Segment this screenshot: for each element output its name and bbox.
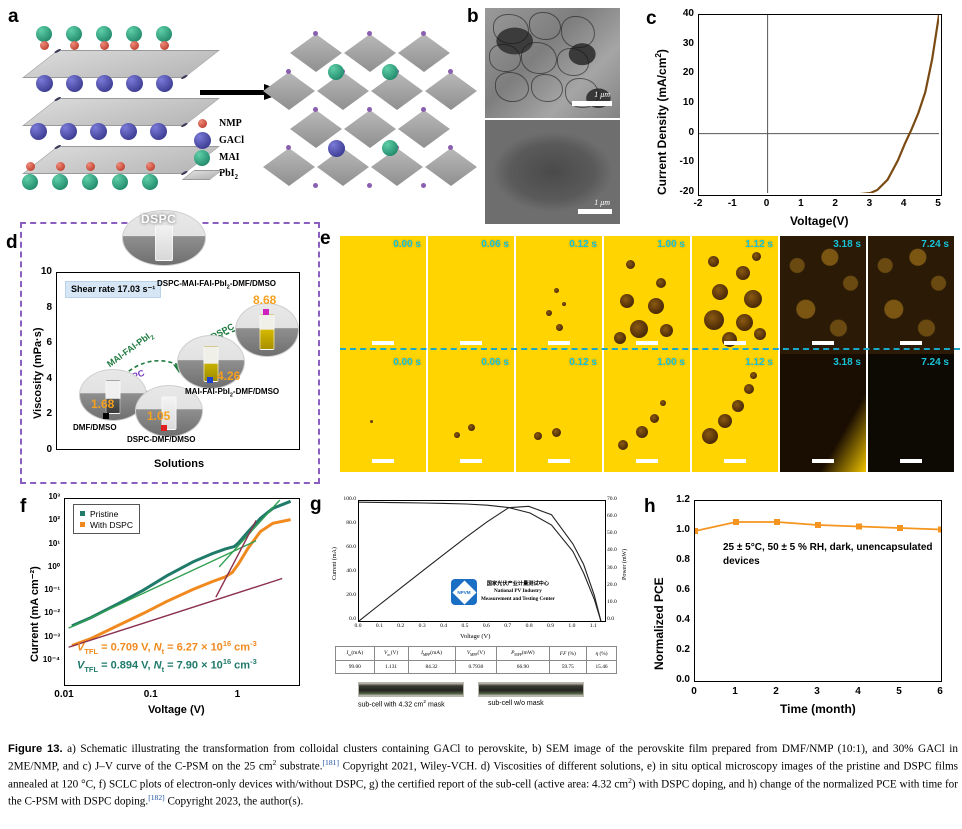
panel-g-ytick-left-3: 60.0 <box>336 544 356 550</box>
panel-d-ytick-2: 4 <box>32 373 52 384</box>
panel-f-ytick-2: 10⁻² <box>36 608 60 617</box>
crystal-domain <box>454 432 460 438</box>
panel-g-ytick-right-2: 20.0 <box>607 582 627 588</box>
mai-sphere-icon <box>185 150 219 166</box>
perovskite-lattice <box>290 34 455 194</box>
microscopy-frame: 0.00 s <box>340 236 426 354</box>
crystal-domain <box>534 432 542 440</box>
device-photo-masked <box>358 682 464 697</box>
microscopy-frame: 0.12 s <box>516 354 602 472</box>
crystal-domain <box>648 298 664 314</box>
frame-scale-bar <box>812 341 834 345</box>
crystal-domain <box>618 440 628 450</box>
microscopy-frame: 7.24 s <box>868 236 954 354</box>
crystal-domain <box>736 314 753 331</box>
panel-c-ytick-1: -10 <box>664 156 694 167</box>
label-mai-fai-pbi2: MAI-FAI-PbI2-DMF/DMSO <box>185 387 279 399</box>
crystal-domain <box>468 424 475 431</box>
crystal-domain <box>620 294 634 308</box>
panel-f-xtick-2: 1 <box>221 689 253 700</box>
panel-h-ytick-4: 0.8 <box>662 554 690 565</box>
value-dspc-dmf-dmso: 1.05 <box>147 409 170 423</box>
panel-d-ytick-5: 10 <box>32 266 52 277</box>
table-header-cell-3: VMPP(V) <box>455 647 497 661</box>
microscopy-frame: 3.18 s <box>780 354 866 472</box>
panel-c-ytick-5: 30 <box>664 38 694 49</box>
annotation-vtfl-dspc: VTFL = 0.709 V, Nt = 6.27 × 1016 cm-3 <box>77 639 257 656</box>
panel-h-ytick-6: 1.2 <box>662 494 690 505</box>
microscopy-frame: 0.12 s <box>516 236 602 354</box>
table-cell-4: 66.90 <box>497 661 549 674</box>
crystal-domain <box>626 260 635 269</box>
panel-h-ytick-5: 1.0 <box>662 524 690 535</box>
crystal-domain <box>554 288 559 293</box>
panel-g-xtick-5: 0.5 <box>455 623 475 629</box>
panel-h-ytick-0: 0.0 <box>662 674 690 685</box>
panel-label-g: g <box>310 494 322 516</box>
crystal-domain <box>650 414 659 423</box>
marker-mai-fai-pbi2 <box>207 377 213 383</box>
panel-g-xtick-9: 0.9 <box>541 623 561 629</box>
crystal-domain <box>754 328 766 340</box>
npvm-certifier-mark: NPVM 国家光伏产业计量测试中心 National PV Industry M… <box>451 579 555 605</box>
panel-h-xtick-2: 2 <box>764 686 788 697</box>
pce-data-point <box>775 520 780 525</box>
panel-f-ytick-6: 10² <box>36 515 60 524</box>
device-photo-unmasked <box>478 682 584 697</box>
panel-f-ytick-7: 10³ <box>36 492 60 501</box>
panel-g-ytick-left-1: 20.0 <box>336 592 356 598</box>
panel-c-xtick-0: -2 <box>686 198 710 209</box>
crystal-domain <box>744 290 762 308</box>
table-header-cell-6: η (%) <box>587 647 617 661</box>
frame-timestamp: 7.24 s <box>921 357 949 368</box>
value-dmf-dmso: 1.68 <box>91 397 114 411</box>
panel-e-microscopy: e 0.00 s0.06 s0.12 s1.00 s1.12 s3.18 s7.… <box>320 222 962 484</box>
crystal-domain <box>712 284 728 300</box>
panel-d-ytick-1: 2 <box>32 408 52 419</box>
frame-scale-bar <box>636 459 658 463</box>
value-dspc-mai-fai-pbi2: 8.68 <box>253 293 276 307</box>
table-header-cell-1: Voc(V) <box>374 647 408 661</box>
panel-h-xtick-6: 6 <box>928 686 952 697</box>
microscopy-frame: 0.06 s <box>428 354 514 472</box>
annotation-vtfl-pristine: VTFL = 0.894 V, Nt = 7.90 × 1016 cm-3 <box>77 657 257 674</box>
panel-g-ytick-right-7: 70.0 <box>607 496 627 502</box>
panel-g-xtick-7: 0.7 <box>498 623 518 629</box>
frame-scale-bar <box>812 459 834 463</box>
panel-h-plot-area: 25 ± 5°C, 50 ± 5 % RH, dark, unencapsula… <box>694 500 942 682</box>
panel-g-ytick-right-3: 30.0 <box>607 565 627 571</box>
panel-c-ytick-6: 40 <box>664 8 694 19</box>
table-cell-2: 84.32 <box>408 661 455 674</box>
microscopy-frame: 1.00 s <box>604 354 690 472</box>
panel-c-xtick-2: 0 <box>755 198 779 209</box>
panel-label-f: f <box>20 496 26 518</box>
device-label-unmasked: sub-cell w/o mask <box>488 700 544 707</box>
table-header-cell-0: Isc(mA) <box>336 647 375 661</box>
frame-scale-bar <box>900 459 922 463</box>
frame-scale-bar <box>460 459 482 463</box>
frame-scale-bar <box>372 341 394 345</box>
microscopy-frame: 0.00 s <box>340 354 426 472</box>
panel-c-ytick-2: 0 <box>664 127 694 138</box>
microscopy-frame: 0.06 s <box>428 236 514 354</box>
panel-g-plot-area: NPVM 国家光伏产业计量测试中心 National PV Industry M… <box>358 500 606 622</box>
panel-d-plot-area: Shear rate 17.03 s⁻¹ MAI-FAI-PbI2 DSPC D… <box>56 272 300 450</box>
panel-c-curve-svg <box>699 15 939 193</box>
panel-label-c: c <box>646 8 657 30</box>
pce-data-point <box>695 529 698 534</box>
panel-g-xtick-4: 0.4 <box>434 623 454 629</box>
frame-scale-bar <box>460 341 482 345</box>
panel-g-ylabel-left: Current (mA) <box>332 547 338 580</box>
panel-g-ytick-right-5: 50.0 <box>607 530 627 536</box>
panel-g-xtick-1: 0.1 <box>369 623 389 629</box>
frame-scale-bar <box>372 459 394 463</box>
panel-g-certified-report: g Current (mA) Power (mW) NPVM 国家光伏产业计量测… <box>310 490 640 735</box>
panel-f-sclc: f Current (mA cm⁻²) Pristine With DSPC <box>20 490 310 730</box>
scale-label-top: 1 μm <box>594 90 610 99</box>
panel-h-xtick-1: 1 <box>723 686 747 697</box>
legend-item-pristine: Pristine <box>80 508 133 519</box>
frame-timestamp: 0.06 s <box>481 239 509 250</box>
crystal-domain <box>718 414 732 428</box>
nmp-sphere-icon <box>185 119 219 128</box>
panel-c-xtick-6: 4 <box>892 198 916 209</box>
table-cell-5: 59.75 <box>549 661 587 674</box>
panel-a-legend: NMP GACl MAI PbI2 <box>185 115 244 183</box>
pce-data-point <box>816 523 821 528</box>
panel-g-xtick-0: 0.0 <box>348 623 368 629</box>
panel-h-xtick-5: 5 <box>887 686 911 697</box>
panel-c-plot-area <box>698 14 942 196</box>
panel-f-xtick-1: 0.1 <box>135 689 167 700</box>
microscopy-frame: 3.18 s <box>780 236 866 354</box>
device-label-masked: sub-cell with 4.32 cm2 mask <box>358 700 445 708</box>
panel-f-legend: Pristine With DSPC <box>73 504 140 534</box>
legend-item-mai: MAI <box>185 149 244 166</box>
panel-f-plot-area: Pristine With DSPC VTFL = 0.709 V, Nt = … <box>64 498 300 686</box>
crystal-domain <box>702 428 718 444</box>
frame-scale-bar <box>548 459 570 463</box>
dspc-photo-label: DSPC <box>141 212 176 226</box>
microscopy-frame: 1.12 s <box>692 236 778 354</box>
crystal-domain <box>552 428 561 437</box>
panel-label-h: h <box>644 496 656 518</box>
panel-b-sem: b 1 μm 1 μm <box>465 0 640 232</box>
table-header-row: Isc(mA)Voc(V)IMPP(mA)VMPP(V)PMPP(mW)FF (… <box>336 647 617 661</box>
table-header-cell-2: IMPP(mA) <box>408 647 455 661</box>
crystal-domain <box>546 310 552 316</box>
panel-c-xtick-4: 2 <box>823 198 847 209</box>
frame-timestamp: 3.18 s <box>833 239 861 250</box>
frame-timestamp: 0.00 s <box>393 357 421 368</box>
crystal-domain <box>656 278 666 288</box>
panel-a-schematic: a <box>0 0 462 230</box>
frame-scale-bar <box>724 341 746 345</box>
pce-data-point <box>734 520 739 525</box>
scale-bar-top <box>572 101 612 106</box>
dspc-swatch-icon <box>80 522 85 527</box>
figure-13-panels: a <box>0 0 962 740</box>
pristine-swatch-icon <box>80 511 85 516</box>
frame-scale-bar <box>900 341 922 345</box>
pce-data-point <box>898 526 903 531</box>
panel-label-b: b <box>467 6 479 28</box>
sem-top-view-image: 1 μm <box>485 8 620 118</box>
panel-f-ytick-1: 10⁻³ <box>36 632 60 641</box>
panel-d-ytick-4: 8 <box>32 302 52 313</box>
row-divider <box>340 348 960 350</box>
panel-c-ytick-0: -20 <box>664 186 694 197</box>
marker-dspc-dmf-dmso <box>161 425 167 431</box>
crystal-domain <box>614 332 626 344</box>
marker-dspc-mai-fai-pbi2 <box>263 309 269 315</box>
panel-label-e: e <box>320 228 331 250</box>
panel-c-xtick-3: 1 <box>789 198 813 209</box>
panel-g-xtick-10: 1.0 <box>562 623 582 629</box>
frame-timestamp: 1.12 s <box>745 239 773 250</box>
panel-g-xtick-11: 1.1 <box>583 623 603 629</box>
crystal-domain <box>660 324 673 337</box>
panel-h-condition-note: 25 ± 5°C, 50 ± 5 % RH, dark, unencapsula… <box>723 541 933 568</box>
scale-bar-bottom <box>578 209 612 214</box>
frame-timestamp: 0.12 s <box>569 239 597 250</box>
panel-g-xtick-3: 0.3 <box>412 623 432 629</box>
microscopy-frame: 1.00 s <box>604 236 690 354</box>
table-cell-0: 99.00 <box>336 661 375 674</box>
crystal-domain <box>562 302 566 306</box>
panel-c-xtick-7: 5 <box>926 198 950 209</box>
panel-c-xtick-5: 3 <box>857 198 881 209</box>
crystal-domain <box>630 320 648 338</box>
panel-h-ytick-3: 0.6 <box>662 584 690 595</box>
panel-label-d: d <box>6 232 18 254</box>
panel-f-xtick-0: 0.01 <box>48 689 80 700</box>
frame-timestamp: 1.00 s <box>657 357 685 368</box>
panel-h-xtick-0: 0 <box>682 686 706 697</box>
microscopy-frame: 7.24 s <box>868 354 954 472</box>
value-mai-fai-pbi2: 4.26 <box>217 369 240 383</box>
npvm-logo-icon: NPVM <box>451 579 477 605</box>
panel-g-ytick-left-0: 0.0 <box>336 616 356 622</box>
frame-timestamp: 1.12 s <box>745 357 773 368</box>
panel-c-xtick-1: -1 <box>720 198 744 209</box>
panel-g-xlabel: Voltage (V) <box>460 633 490 640</box>
frame-scale-bar <box>724 459 746 463</box>
crystal-domain <box>556 324 563 331</box>
frame-scale-bar <box>548 341 570 345</box>
panel-h-ytick-1: 0.2 <box>662 644 690 655</box>
crystal-domain <box>704 310 724 330</box>
panel-h-curve-svg <box>695 501 941 681</box>
panel-g-xtick-2: 0.2 <box>391 623 411 629</box>
panel-g-ytick-left-4: 80.0 <box>336 520 356 526</box>
frame-timestamp: 0.00 s <box>393 239 421 250</box>
panel-d-viscosity: d DSPC Viscosity (mPa·s) Shear rate 17.0… <box>20 222 320 484</box>
panel-f-ytick-3: 10⁻¹ <box>36 585 60 594</box>
panel-h-xtick-3: 3 <box>805 686 829 697</box>
frame-timestamp: 0.06 s <box>481 357 509 368</box>
pbi2-slab-icon <box>185 170 219 180</box>
panel-g-xtick-8: 0.8 <box>519 623 539 629</box>
frame-timestamp: 1.00 s <box>657 239 685 250</box>
crystal-domain <box>736 266 750 280</box>
table-header-cell-5: FF (%) <box>549 647 587 661</box>
panel-g-ytick-right-4: 40.0 <box>607 547 627 553</box>
certified-parameters-table: Isc(mA)Voc(V)IMPP(mA)VMPP(V)PMPP(mW)FF (… <box>335 646 617 674</box>
panel-f-ytick-0: 10⁻⁴ <box>36 655 60 664</box>
npvm-certifier-text: 国家光伏产业计量测试中心 National PV Industry Measur… <box>481 581 555 604</box>
panel-c-jv-curve: c Current Density (mA/cm2) Voltage(V) -2… <box>640 0 962 232</box>
panel-g-ytick-right-6: 60.0 <box>607 513 627 519</box>
crystal-domain <box>732 400 744 412</box>
label-dmf-dmso: DMF/DMSO <box>73 423 117 432</box>
panel-d-ytick-0: 0 <box>32 444 52 455</box>
panel-h-ytick-2: 0.4 <box>662 614 690 625</box>
table-cell-3: 0.7930 <box>455 661 497 674</box>
panel-g-xtick-6: 0.6 <box>476 623 496 629</box>
crystal-domain <box>636 426 648 438</box>
panel-g-ytick-left-2: 40.0 <box>336 568 356 574</box>
legend-label-with-dspc: With DSPC <box>90 520 133 530</box>
legend-label-mai: MAI <box>219 152 240 163</box>
panel-c-ytick-3: 10 <box>664 97 694 108</box>
microscopy-frame: 1.12 s <box>692 354 778 472</box>
frame-timestamp: 3.18 s <box>833 357 861 368</box>
legend-label-pristine: Pristine <box>90 509 118 519</box>
label-dspc-mai-fai-pbi2: DSPC-MAI-FAI-PbI2-DMF/DMSO <box>157 279 276 291</box>
table-header-cell-4: PMPP(mW) <box>497 647 549 661</box>
gacl-sphere-icon <box>185 132 219 149</box>
panel-g-ytick-right-1: 10.0 <box>607 599 627 605</box>
figure-label: Figure 13. <box>8 743 63 755</box>
table-cell-6: 15.46 <box>587 661 617 674</box>
crystal-domain <box>752 252 761 261</box>
legend-item-gacl: GACl <box>185 132 244 149</box>
panel-g-ytick-right-0: 0.0 <box>607 616 627 622</box>
panel-label-a: a <box>8 6 19 28</box>
marker-dmf-dmso <box>103 413 109 419</box>
sem-cross-section-image: 1 μm <box>485 120 620 224</box>
pce-data-point <box>857 524 862 529</box>
crystal-domain <box>660 400 666 406</box>
legend-item-pbi2: PbI2 <box>185 166 244 183</box>
panel-h-stability: h Normalized PCE 25 ± 5°C, 50 ± 5 % RH, … <box>640 490 962 730</box>
crystal-domain <box>708 256 719 267</box>
frame-scale-bar <box>636 341 658 345</box>
frame-timestamp: 0.12 s <box>569 357 597 368</box>
panel-d-xlabel: Solutions <box>154 458 204 470</box>
panel-h-xlabel: Time (month) <box>780 702 856 716</box>
table-cell-1: 1.131 <box>374 661 408 674</box>
panel-h-xtick-4: 4 <box>846 686 870 697</box>
panel-d-ytick-3: 6 <box>32 337 52 348</box>
figure-caption: Figure 13. a) Schematic illustrating the… <box>8 742 958 811</box>
panel-c-ytick-4: 20 <box>664 67 694 78</box>
crystal-domain <box>750 372 757 379</box>
legend-item-nmp: NMP <box>185 115 244 132</box>
frame-timestamp: 7.24 s <box>921 239 949 250</box>
panel-f-xlabel: Voltage (V) <box>148 704 205 716</box>
pce-data-point <box>939 527 942 532</box>
panel-f-ytick-5: 10¹ <box>36 539 60 548</box>
legend-item-with-dspc: With DSPC <box>80 519 133 530</box>
legend-label-nmp: NMP <box>219 118 242 129</box>
panel-f-ytick-4: 10⁰ <box>36 562 60 571</box>
crystal-domain <box>744 384 754 394</box>
crystal-domain <box>370 420 373 423</box>
label-dspc-dmf-dmso: DSPC-DMF/DMSO <box>127 435 195 444</box>
legend-label-gacl: GACl <box>219 135 244 146</box>
table-row: 99.001.13184.320.793066.9059.7515.46 <box>336 661 617 674</box>
panel-g-ytick-left-5: 100.0 <box>336 496 356 502</box>
scale-label-bottom: 1 μm <box>594 198 610 207</box>
